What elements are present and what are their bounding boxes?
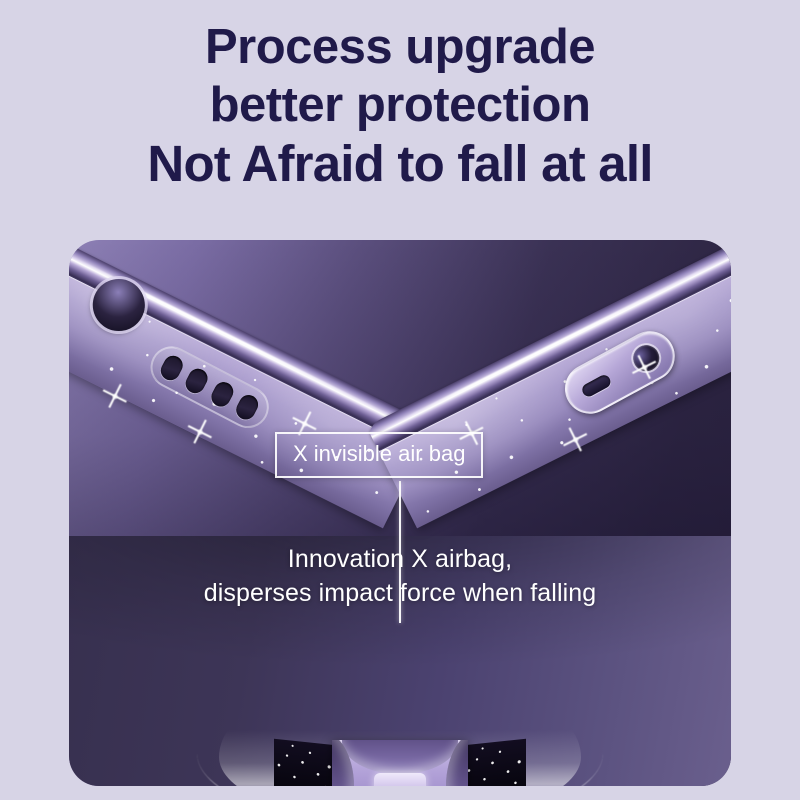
grille-hole (208, 378, 236, 409)
x-airbag-icon (332, 740, 468, 786)
headline-line-1: Process upgrade (0, 18, 800, 76)
airbag-callout-label: X invisible air bag (275, 432, 483, 478)
case-arm-right (366, 240, 731, 534)
glitter-texture-sidewall-right (464, 739, 526, 786)
grille-hole (183, 365, 211, 396)
case-corner-vertex (266, 730, 534, 786)
port-slot (579, 373, 612, 399)
headline-line-3: Not Afraid to fall at all (0, 134, 800, 194)
grille-hole (234, 392, 262, 423)
airbag-lobe-top (342, 740, 458, 774)
case-arm-left (69, 240, 434, 534)
page-title: Process upgrade better protection Not Af… (0, 18, 800, 194)
port-lens (628, 341, 663, 376)
product-image-card: Innovation X airbag, disperses impact fo… (69, 240, 731, 786)
case-sidewall-left (274, 739, 336, 786)
case-sidewall-right (464, 739, 526, 786)
airbag-core (374, 773, 426, 786)
headline-line-2: better protection (0, 76, 800, 134)
glitter-texture-sidewall-left (274, 739, 336, 786)
callout-leader-line (399, 481, 401, 623)
grille-hole (157, 352, 185, 383)
